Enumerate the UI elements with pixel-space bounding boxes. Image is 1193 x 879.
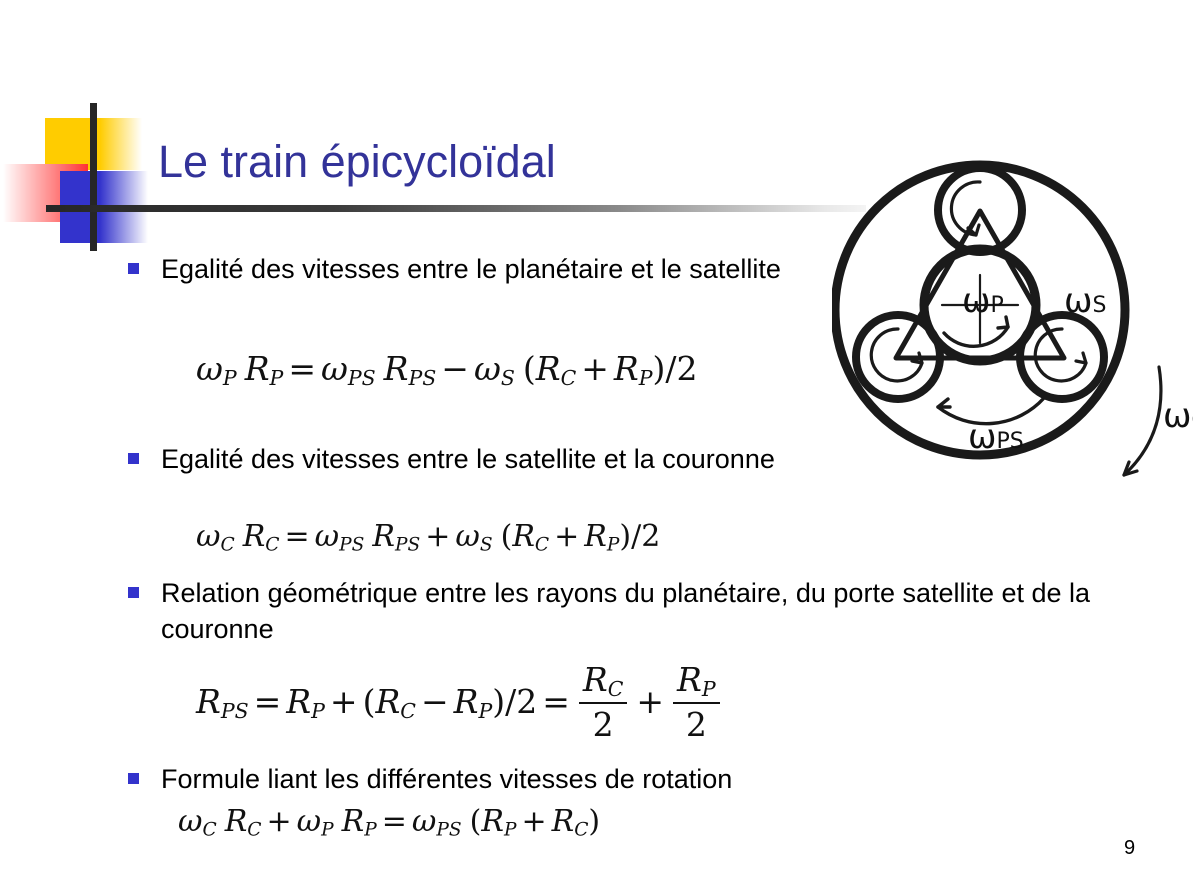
omega-p-subscript: P — [990, 293, 1003, 318]
bullet-marker-icon — [128, 587, 139, 598]
equation-3: RPS=RP+(RC−RP)/2=RC2+RP2 — [196, 662, 724, 746]
bullet-marker-icon — [128, 453, 139, 464]
bullet-item-4-label: Formule liant les différentes vitesses d… — [161, 761, 732, 797]
bullet-marker-icon — [128, 263, 139, 274]
omega-s-label: ωS — [1064, 281, 1106, 321]
equation-1: ωPRP=ωPSRPS−ωS(RC+RP)/2 — [196, 349, 698, 390]
ring-rotation-arrow — [1124, 367, 1161, 475]
bullet-item-2-label: Egalité des vitesses entre le satellite … — [161, 441, 775, 477]
page-title: Le train épicycloïdal — [158, 136, 556, 188]
omega-ps-label: ωPS — [968, 417, 1024, 457]
omega-s-subscript: S — [1092, 293, 1106, 318]
sun-rotation-arrow — [944, 327, 1008, 346]
equation-4: ωCRC+ωPRP=ωPS(RP+RC) — [178, 804, 600, 841]
bullet-item-2: Egalité des vitesses entre le satellite … — [128, 441, 848, 477]
omega-c-label: ωC — [1163, 396, 1193, 436]
satellite-right-arrowhead — [1076, 353, 1086, 363]
bullet-item-1-label: Egalité des vitesses entre le planétaire… — [161, 251, 781, 287]
omega-ps-subscript: PS — [996, 429, 1023, 454]
omega-c-symbol: ω — [1163, 396, 1191, 436]
omega-ps-symbol: ω — [968, 417, 996, 457]
equation-2: ωCRC=ωPSRPS+ωS(RC+RP)/2 — [196, 519, 660, 556]
deco-vertical-line — [90, 103, 97, 251]
title-underline-rule — [46, 205, 866, 212]
satellite-top-rotation-arrow — [951, 182, 980, 235]
bullet-item-3: Relation géométrique entre les rayons du… — [128, 575, 1128, 647]
omega-p-symbol: ω — [962, 281, 990, 321]
fraction-rp-over-2: RP2 — [673, 660, 720, 744]
bullet-item-4: Formule liant les différentes vitesses d… — [128, 761, 1028, 797]
page-number: 9 — [1124, 837, 1135, 860]
bullet-item-1: Egalité des vitesses entre le planétaire… — [128, 251, 848, 287]
omega-s-symbol: ω — [1064, 281, 1092, 321]
deco-yellow-gradient — [100, 118, 142, 170]
bullet-marker-icon — [128, 773, 139, 784]
bullet-item-3-label: Relation géométrique entre les rayons du… — [161, 575, 1128, 647]
omega-p-label: ωP — [962, 281, 1004, 321]
carrier-rotation-arrowhead — [938, 399, 950, 407]
fraction-rc-over-2: RC2 — [579, 660, 628, 744]
slide-canvas: Le train épicycloïdal Egalité des vitess… — [0, 0, 1193, 879]
